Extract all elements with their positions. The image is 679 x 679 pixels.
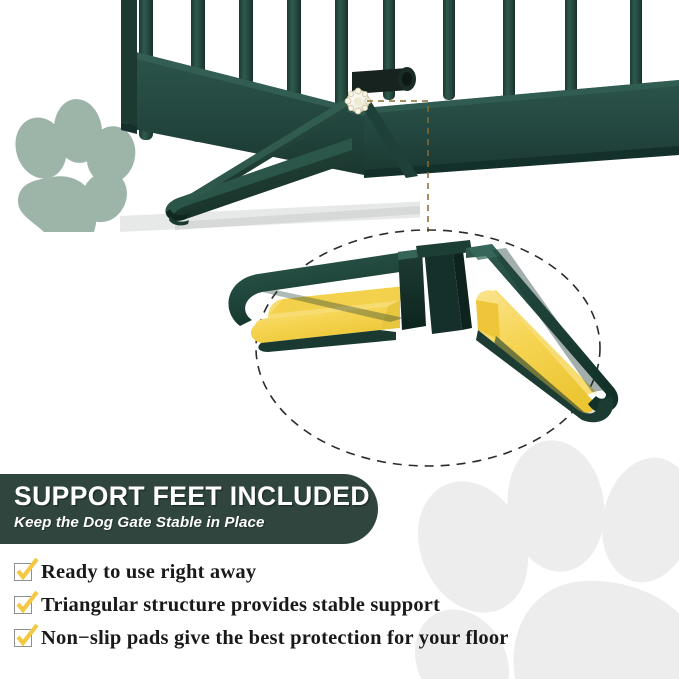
checkbox-checked-icon <box>14 563 32 581</box>
product-photo-area <box>0 0 679 470</box>
banner-subtitle: Keep the Dog Gate Stable in Place <box>14 512 378 534</box>
checkmark-icon <box>14 624 40 650</box>
feature-list: Ready to use right away Triangular struc… <box>14 556 654 655</box>
product-infographic-page: SUPPORT FEET INCLUDED Keep the Dog Gate … <box>0 0 679 679</box>
list-item: Ready to use right away <box>14 556 654 587</box>
list-item-label: Triangular structure provides stable sup… <box>41 594 440 616</box>
list-item: Non−slip pads give the best protection f… <box>14 622 654 653</box>
checkmark-icon <box>14 591 40 617</box>
banner-headline: SUPPORT FEET INCLUDED Keep the Dog Gate … <box>0 474 378 544</box>
banner-title: SUPPORT FEET INCLUDED <box>14 481 378 511</box>
list-item-label: Ready to use right away <box>41 561 256 583</box>
checkbox-checked-icon <box>14 596 32 614</box>
checkbox-checked-icon <box>14 629 32 647</box>
checkmark-icon <box>14 558 40 584</box>
list-item: Triangular structure provides stable sup… <box>14 589 654 620</box>
list-item-label: Non−slip pads give the best protection f… <box>41 627 509 649</box>
support-foot-detail-illustration <box>0 0 679 470</box>
